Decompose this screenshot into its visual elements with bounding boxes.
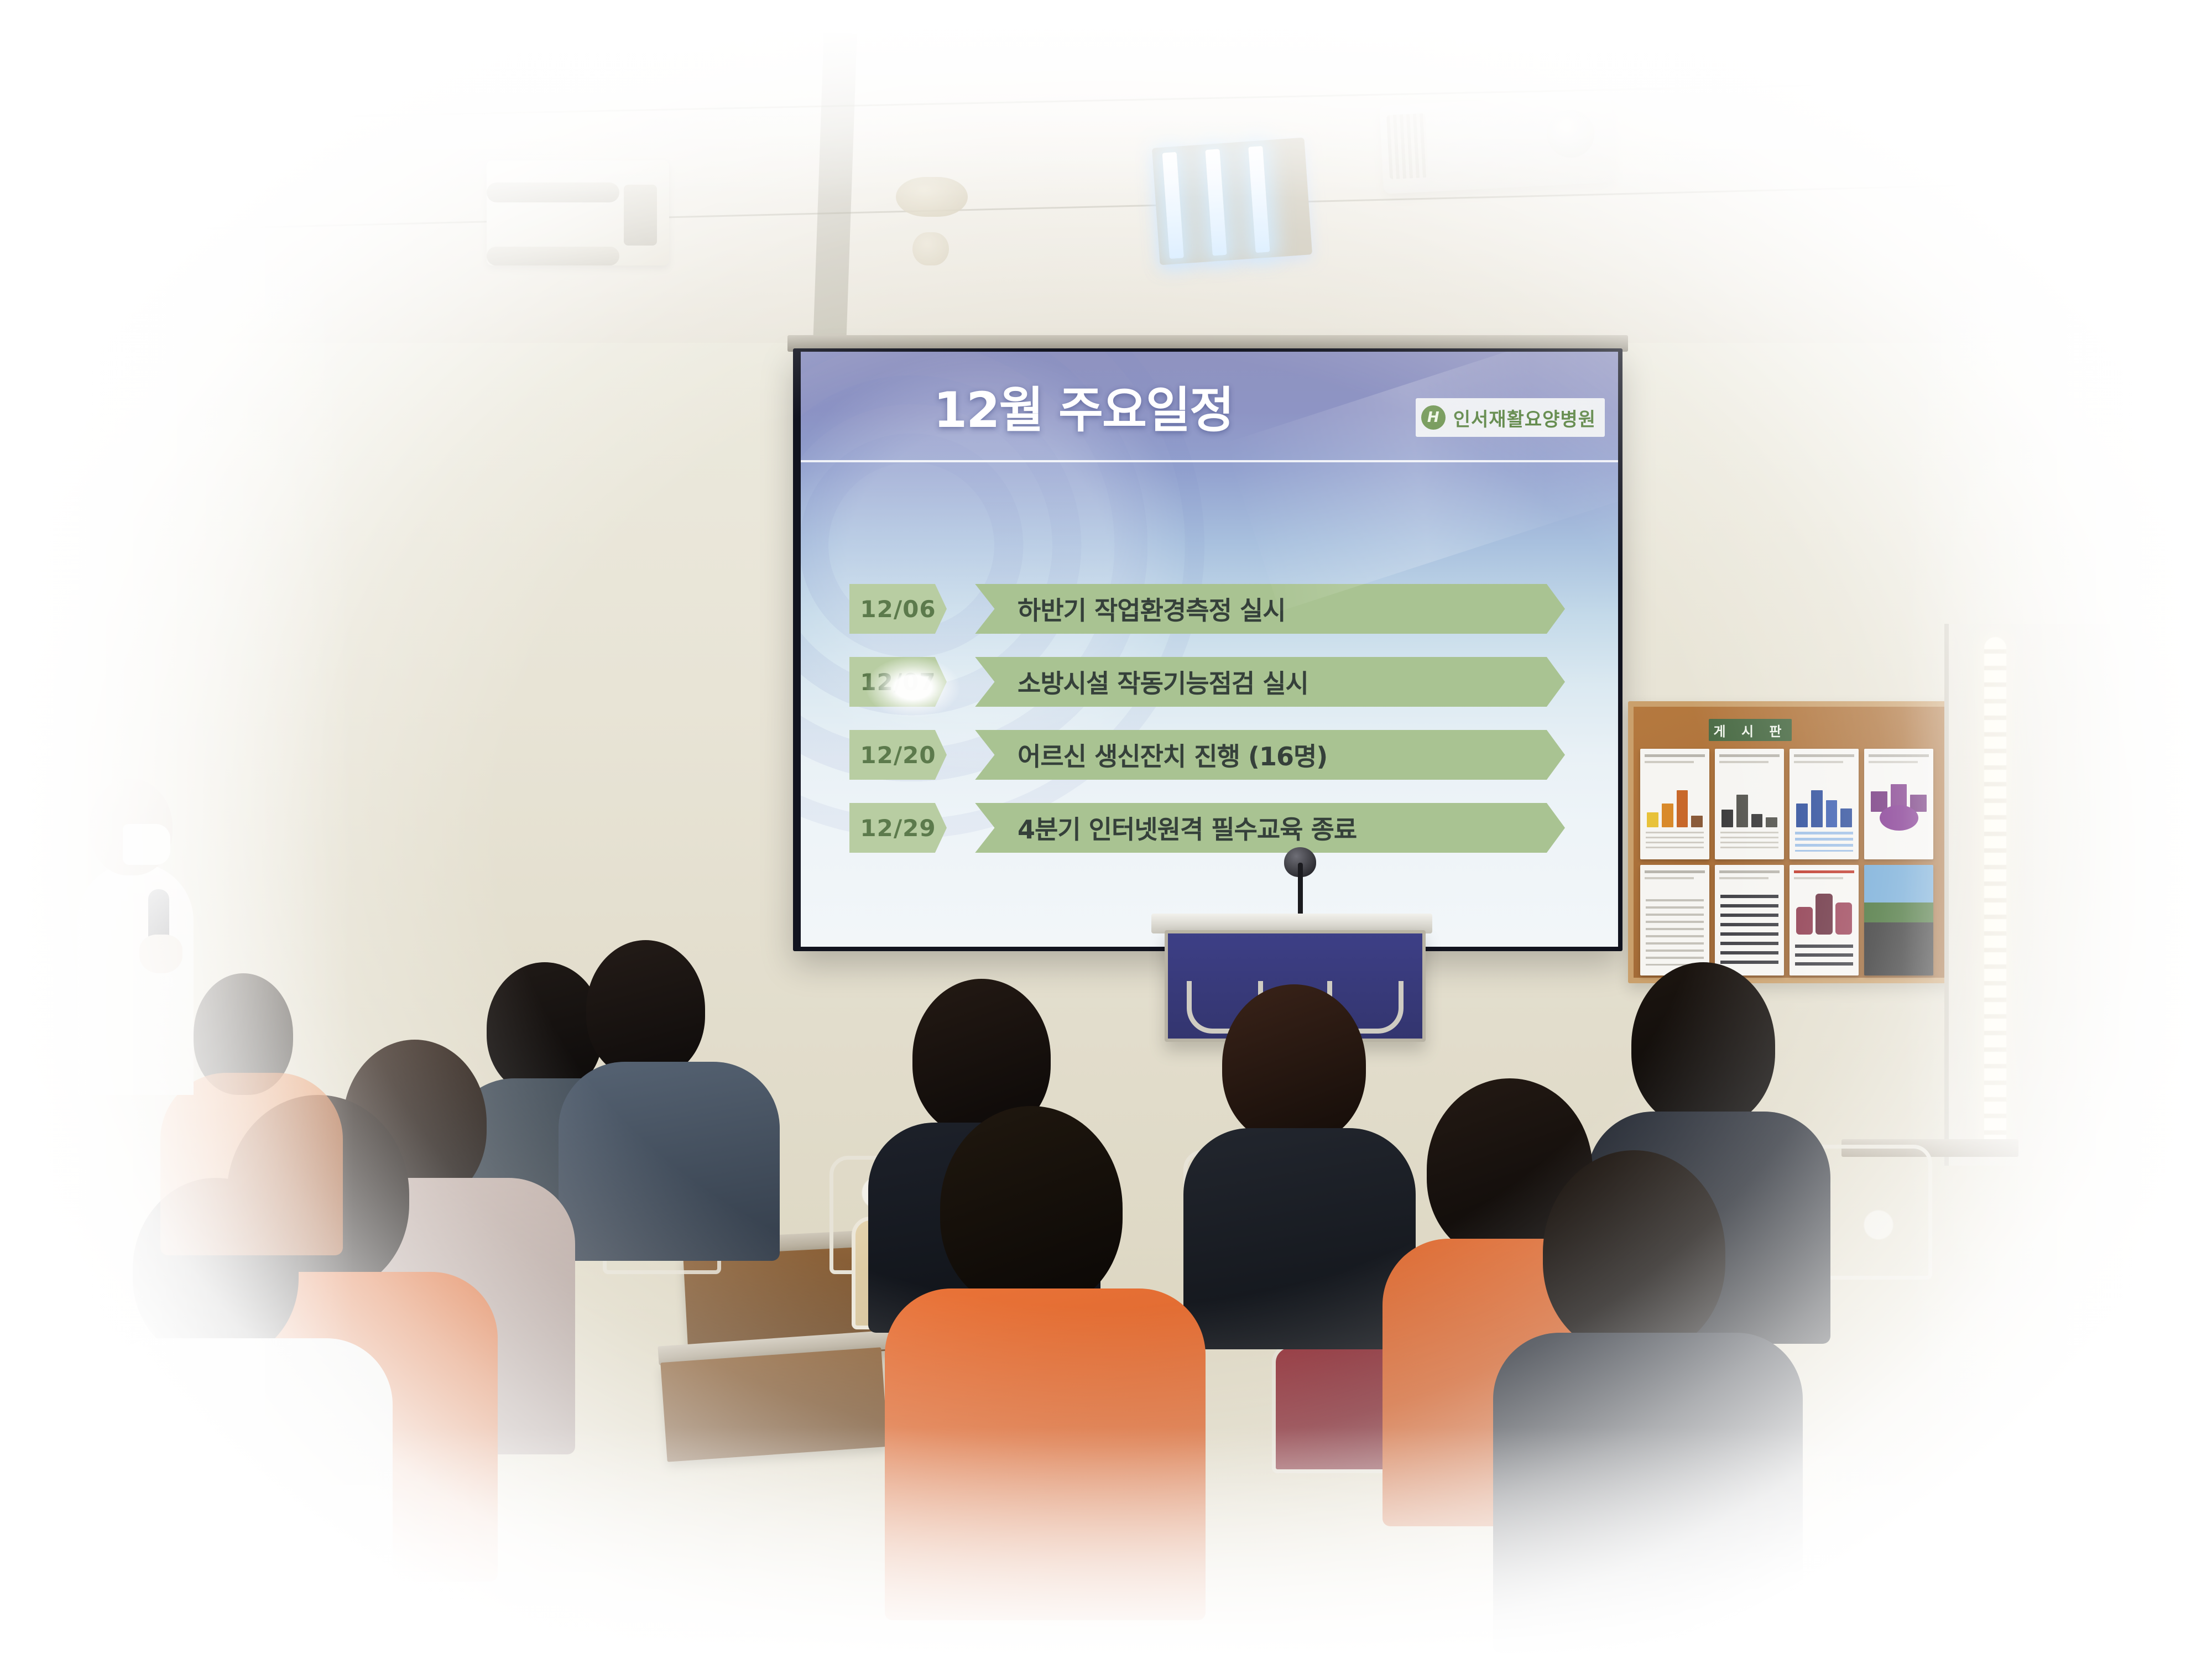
presenter-hand (139, 935, 182, 973)
slide-title: 12월 주요일정 (933, 386, 1233, 435)
poster (1715, 749, 1784, 859)
agenda-bar: 하반기 작업환경측정 실시 (956, 584, 1565, 634)
agenda-text: 4분기 인터넷원격 필수교육 종료 (956, 810, 1357, 846)
bead-light-strip (1984, 637, 2006, 1151)
lens-flare (866, 657, 960, 718)
ceiling-air-vent (487, 160, 669, 265)
poster (1640, 865, 1709, 975)
agenda-text: 소방시설 작동기능점검 실시 (956, 664, 1308, 700)
agenda-date: 12/29 (849, 803, 947, 853)
bulletin-board-label: 게 시 판 (1709, 719, 1792, 741)
projection-screen: 12월 주요일정 H 인서재활요양병원 12/06 하반기 작업환경측정 실시 … (801, 352, 1618, 947)
ceiling-projector (1379, 93, 1616, 194)
presenter-body (77, 863, 194, 1095)
agenda-bar: 4분기 인터넷원격 필수교육 종료 (956, 803, 1565, 853)
poster (1864, 749, 1933, 859)
agenda-row: 12/20 어르신 생신잔치 진행 (16명) (849, 730, 1565, 780)
agenda-row: 12/29 4분기 인터넷원격 필수교육 종료 (849, 803, 1565, 853)
agenda-bar: 어르신 생신잔치 진행 (16명) (956, 730, 1565, 780)
smoke-detector-icon (896, 177, 968, 217)
screen-glare (1225, 352, 1618, 612)
ceiling-speaker-icon (912, 232, 949, 265)
poster (1640, 749, 1709, 859)
poster (1790, 865, 1859, 975)
agenda-row: 12/06 하반기 작업환경측정 실시 (849, 584, 1565, 634)
agenda-text: 어르신 생신잔치 진행 (16명) (956, 737, 1327, 773)
agenda-date: 12/06 (849, 584, 947, 634)
poster (1715, 865, 1784, 975)
poster (1790, 749, 1859, 859)
column-edge (1944, 624, 1949, 1166)
desk (660, 1347, 888, 1462)
agenda-date: 12/20 (849, 730, 947, 780)
agenda-bar: 소방시설 작동기능점검 실시 (956, 657, 1565, 707)
photo-scene: 12월 주요일정 H 인서재활요양병원 12/06 하반기 작업환경측정 실시 … (0, 0, 2212, 1659)
face-mask-icon (123, 824, 170, 865)
fluorescent-ceiling-light (1152, 138, 1312, 265)
agenda-text: 하반기 작업환경측정 실시 (956, 591, 1286, 627)
room-column (1944, 624, 2110, 1166)
agenda-list: 12/06 하반기 작업환경측정 실시 12/07 소방시설 작동기능점검 실시… (849, 584, 1565, 876)
room-ceiling (0, 0, 2212, 343)
poster (1864, 865, 1933, 975)
poster-grid (1640, 749, 1933, 975)
